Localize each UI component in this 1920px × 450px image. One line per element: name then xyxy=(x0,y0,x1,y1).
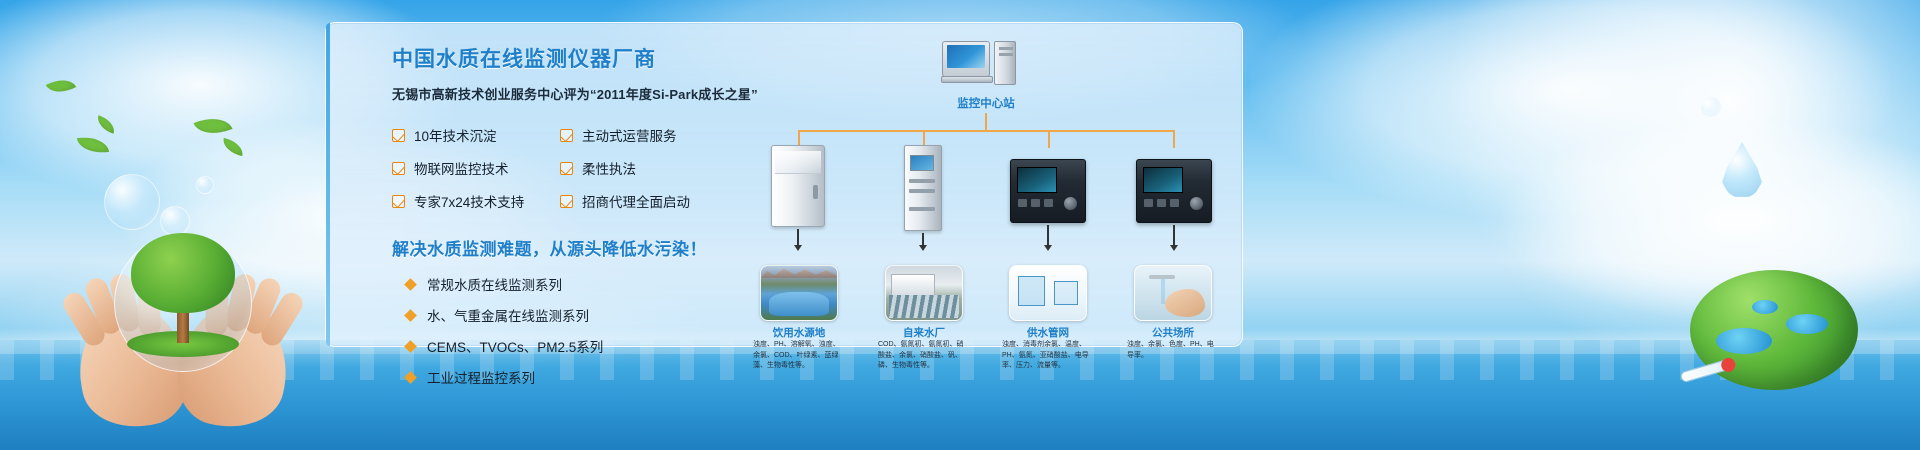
feature-item[interactable]: 10年技术沉淀 xyxy=(392,125,560,145)
river-source-photo xyxy=(760,265,838,321)
rack-screen xyxy=(910,155,934,171)
analyzer-knob xyxy=(1064,197,1077,210)
arrow-down-icon xyxy=(1170,245,1178,251)
analyzer-key xyxy=(1044,199,1053,207)
analyzer-key xyxy=(1018,199,1027,207)
product-series-list: 常规水质在线监测系列 水、气重金属在线监测系列 CEMS、TVOCs、PM2.5… xyxy=(392,274,762,387)
arrow-down-icon xyxy=(1044,245,1052,251)
checkbox-icon xyxy=(392,162,405,175)
monitoring-topology-diagram: 监控中心站 饮用水源地 浊度、PH、溶解氧、浊度、余氯、COD、叶绿素、蓝绿藻、… xyxy=(756,33,1226,343)
leaf-icon xyxy=(94,115,117,134)
water-drop-icon xyxy=(1722,142,1762,198)
earth-lake-decor xyxy=(1716,328,1772,354)
monitor-body xyxy=(942,41,990,77)
list-item[interactable]: 常规水质在线监测系列 xyxy=(392,274,762,294)
feature-list: 10年技术沉淀 主动式运营服务 物联网监控技术 柔性执法 专家7x24技术支持 … xyxy=(392,125,762,211)
node-description: 浊度、消毒剂余氯、温度、PH、氨氮、亚硝酸盐、电导率、压力、流量等。 xyxy=(1002,340,1094,372)
rack-band xyxy=(909,207,935,211)
page-title: 中国水质在线监测仪器厂商 xyxy=(392,43,762,73)
node-device xyxy=(771,145,825,227)
copy-block: 中国水质在线监测仪器厂商 无锡市高新技术创业服务中心评为“2011年度Si-Pa… xyxy=(392,43,762,387)
feature-item[interactable]: 主动式运营服务 xyxy=(560,125,750,145)
keyboard-base xyxy=(941,76,993,83)
arrow-line xyxy=(1047,225,1049,246)
list-item[interactable]: 工业过程监控系列 xyxy=(392,367,762,387)
node-caption: 公共场所 xyxy=(1118,325,1228,340)
checkbox-icon xyxy=(560,195,573,208)
pipe-network-photo xyxy=(1009,265,1087,321)
diamond-bullet-icon xyxy=(404,371,417,384)
node-device xyxy=(1010,159,1086,223)
hands-holding-tree-illustration xyxy=(78,238,288,428)
feature-item[interactable]: 招商代理全面启动 xyxy=(560,191,750,211)
leaf-icon xyxy=(77,134,109,156)
page-subtitle: 无锡市高新技术创业服务中心评为“2011年度Si-Park成长之星” xyxy=(392,84,762,103)
analyzer-screen xyxy=(1017,167,1057,193)
tree-crown-icon xyxy=(131,233,235,313)
connector-line xyxy=(1173,130,1175,148)
bubble-decor xyxy=(1700,96,1722,118)
public-tap-photo xyxy=(1134,265,1212,321)
arrow-down-icon xyxy=(794,245,802,251)
connector-line xyxy=(985,113,987,131)
panel-analyzer-dark-icon xyxy=(1136,159,1212,223)
node-device xyxy=(904,145,942,231)
analyzer-key xyxy=(1144,199,1153,207)
analyzer-key xyxy=(1031,199,1040,207)
diamond-bullet-icon xyxy=(404,278,417,291)
arrow-line xyxy=(1173,225,1175,246)
rack-band xyxy=(909,179,935,183)
feature-item[interactable]: 专家7x24技术支持 xyxy=(392,191,560,211)
feature-label: 专家7x24技术支持 xyxy=(414,191,524,211)
checkbox-icon xyxy=(392,129,405,142)
desktop-computer-icon xyxy=(942,41,1028,89)
feature-label: 10年技术沉淀 xyxy=(414,125,497,145)
bubble-decor xyxy=(160,206,190,236)
checkbox-icon xyxy=(560,162,573,175)
node-description: 浊度、余氯、色度、PH、电导率。 xyxy=(1127,340,1219,361)
rack-analyzer-icon xyxy=(904,145,942,231)
feature-label: 主动式运营服务 xyxy=(582,125,677,145)
node-description: COD、氨氮初、氨氮初、硝酸盐、余氯、硝酸盐、矾、磷、生物毒性等。 xyxy=(878,340,970,372)
analyzer-keypad xyxy=(1018,199,1053,207)
pc-tower xyxy=(994,41,1016,85)
content-panel: 中国水质在线监测仪器厂商 无锡市高新技术创业服务中心评为“2011年度Si-Pa… xyxy=(325,22,1243,347)
analyzer-key xyxy=(1170,199,1179,207)
analyzer-knob xyxy=(1190,197,1203,210)
checkbox-icon xyxy=(560,129,573,142)
connector-line xyxy=(1048,130,1050,148)
analyzer-screen xyxy=(1143,167,1183,193)
leaf-icon xyxy=(221,138,245,156)
feature-item[interactable]: 柔性执法 xyxy=(560,158,750,178)
monitor-screen xyxy=(947,45,985,68)
leaf-icon xyxy=(193,110,232,141)
feature-label: 招商代理全面启动 xyxy=(582,191,690,211)
bubble-globe-decor xyxy=(114,234,252,372)
green-earth-illustration xyxy=(1690,270,1858,390)
list-item-label: CEMS、TVOCs、PM2.5系列 xyxy=(427,336,603,356)
connector-line xyxy=(798,130,1173,132)
earth-lake-decor xyxy=(1752,300,1778,314)
bubble-decor xyxy=(196,176,214,194)
feature-item[interactable]: 物联网监控技术 xyxy=(392,158,560,178)
node-caption: 饮用水源地 xyxy=(744,325,854,340)
earth-lake-decor xyxy=(1786,314,1828,334)
panel-accent-bar xyxy=(326,23,330,346)
arrow-line xyxy=(797,229,799,246)
list-item-label: 常规水质在线监测系列 xyxy=(427,274,562,294)
bubble-decor xyxy=(104,174,160,230)
checkbox-icon xyxy=(392,195,405,208)
panel-analyzer-icon xyxy=(1010,159,1086,223)
water-plant-photo xyxy=(885,265,963,321)
diamond-bullet-icon xyxy=(404,309,417,322)
rack-band xyxy=(909,189,935,193)
list-item[interactable]: 水、气重金属在线监测系列 xyxy=(392,305,762,325)
list-item[interactable]: CEMS、TVOCs、PM2.5系列 xyxy=(392,336,762,356)
node-description: 浊度、PH、溶解氧、浊度、余氯、COD、叶绿素、蓝绿藻、生物毒性等。 xyxy=(753,340,845,372)
center-station-label: 监控中心站 xyxy=(906,95,1066,111)
analyzer-keypad xyxy=(1144,199,1179,207)
feature-label: 物联网监控技术 xyxy=(414,158,509,178)
diamond-bullet-icon xyxy=(404,340,417,353)
node-caption: 供水管网 xyxy=(993,325,1103,340)
cloud-decor xyxy=(1250,0,1890,220)
analyzer-key xyxy=(1157,199,1166,207)
list-item-label: 水、气重金属在线监测系列 xyxy=(427,305,589,325)
cabinet-analyzer-icon xyxy=(771,145,825,227)
feature-label: 柔性执法 xyxy=(582,158,636,178)
hand-under-tap-decor xyxy=(1165,289,1205,317)
section-headline: 解决水质监测难题，从源头降低水污染！ xyxy=(392,235,762,260)
arrow-down-icon xyxy=(919,245,927,251)
node-device xyxy=(1136,159,1212,223)
list-item-label: 工业过程监控系列 xyxy=(427,367,535,387)
node-caption: 自来水厂 xyxy=(869,325,979,340)
leaf-icon xyxy=(46,73,76,99)
